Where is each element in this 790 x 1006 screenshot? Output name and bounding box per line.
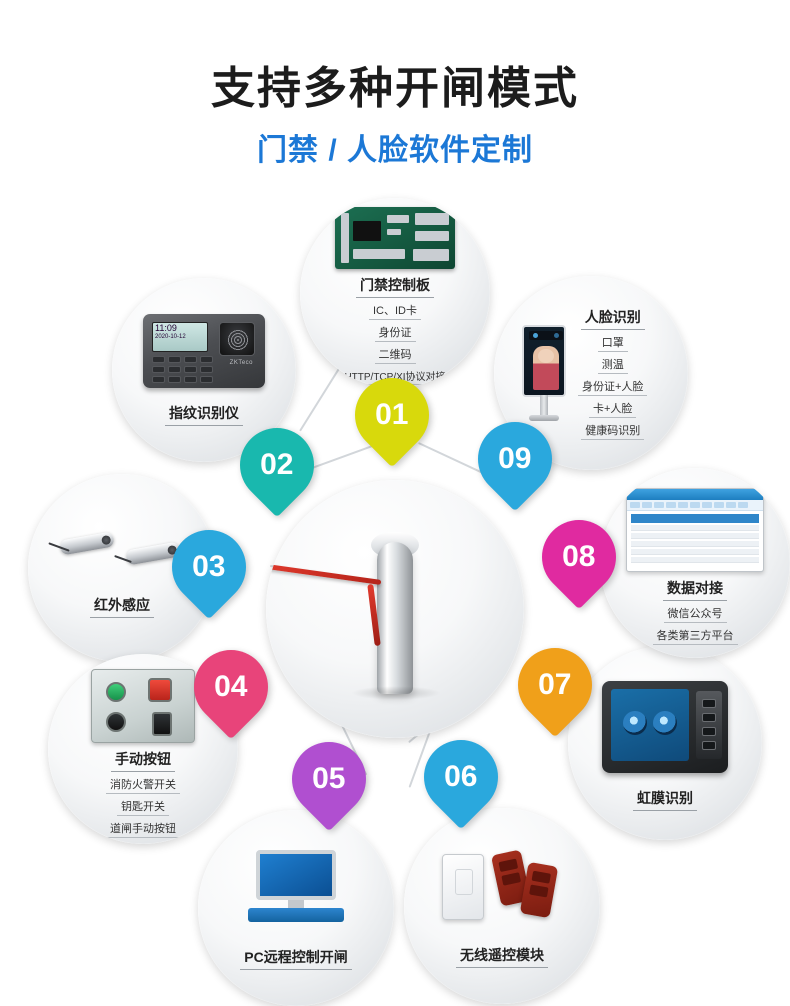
node-detail-01-3: 二维码 — [375, 345, 416, 364]
node-number-09: 09 — [498, 442, 531, 476]
node-bubble-05[interactable]: PC远程控制开闸 — [198, 810, 394, 1006]
software-window-icon — [626, 488, 764, 572]
page-subtitle: 门禁 / 人脸软件定制 — [0, 125, 790, 169]
control-board-icon — [335, 207, 455, 269]
node-detail-01-1: IC、ID卡 — [369, 301, 421, 320]
node-bubble-07[interactable]: 虹膜识别 — [568, 646, 762, 840]
node-title-02: 指纹识别仪 — [165, 402, 243, 426]
node-title-06: 无线遥控模块 — [456, 944, 548, 968]
node-title-09: 人脸识别 — [581, 306, 645, 330]
node-detail-09-3: 身份证+人脸 — [578, 377, 647, 396]
node-detail-09-4: 卡+人脸 — [589, 399, 636, 418]
node-title-07: 虹膜识别 — [633, 787, 697, 811]
node-detail-08-1: 微信公众号 — [664, 604, 727, 623]
iris-recognition-icon — [602, 681, 728, 773]
node-bubble-08[interactable]: 数据对接 微信公众号 各类第三方平台 — [600, 468, 790, 658]
node-detail-04-3: 道闸手动按钮 — [106, 819, 180, 838]
page-title: 支持多种开闸模式 — [0, 52, 790, 116]
node-number-08: 08 — [562, 540, 595, 574]
diagram-canvas: 支持多种开闸模式 门禁 / 人脸软件定制 — [0, 0, 790, 1006]
node-title-01: 门禁控制板 — [356, 274, 434, 298]
node-detail-09-1: 口罩 — [598, 333, 628, 352]
node-detail-09-5: 健康码识别 — [581, 421, 644, 440]
node-number-01: 01 — [375, 398, 408, 432]
node-title-08: 数据对接 — [663, 577, 727, 601]
node-title-03: 红外感应 — [90, 594, 154, 618]
node-title-05: PC远程控制开闸 — [240, 946, 351, 970]
node-detail-09-2: 测温 — [598, 355, 628, 374]
node-detail-04-2: 钥匙开关 — [117, 797, 169, 816]
center-turnstile-bubble — [266, 480, 524, 738]
node-number-05: 05 — [312, 762, 345, 796]
node-number-02: 02 — [260, 448, 293, 482]
face-recognition-icon — [516, 325, 572, 421]
turnstile-icon — [305, 514, 485, 704]
node-title-04: 手动按钮 — [111, 748, 175, 772]
node-bubble-01[interactable]: 门禁控制板 IC、ID卡 身份证 二维码 HTTP/TCP/XI协议对接 — [300, 198, 490, 388]
fingerprint-screen-date: 2020-10-12 — [155, 333, 205, 342]
wireless-remote-icon — [442, 848, 562, 926]
node-number-04: 04 — [214, 670, 247, 704]
node-number-06: 06 — [444, 760, 477, 794]
node-detail-04-1: 消防火警开关 — [106, 775, 180, 794]
node-detail-08-2: 各类第三方平台 — [653, 626, 738, 645]
node-detail-01-2: 身份证 — [375, 323, 416, 342]
node-number-03: 03 — [192, 550, 225, 584]
fingerprint-brand: ZKTeco — [230, 360, 253, 366]
node-number-07: 07 — [538, 668, 571, 702]
manual-button-box-icon — [91, 669, 195, 743]
pc-remote-icon — [248, 850, 344, 928]
fingerprint-reader-icon: 11:09 2020-10-12 ZKTeco — [143, 314, 265, 388]
fingerprint-screen-time: 11:09 — [155, 324, 205, 333]
